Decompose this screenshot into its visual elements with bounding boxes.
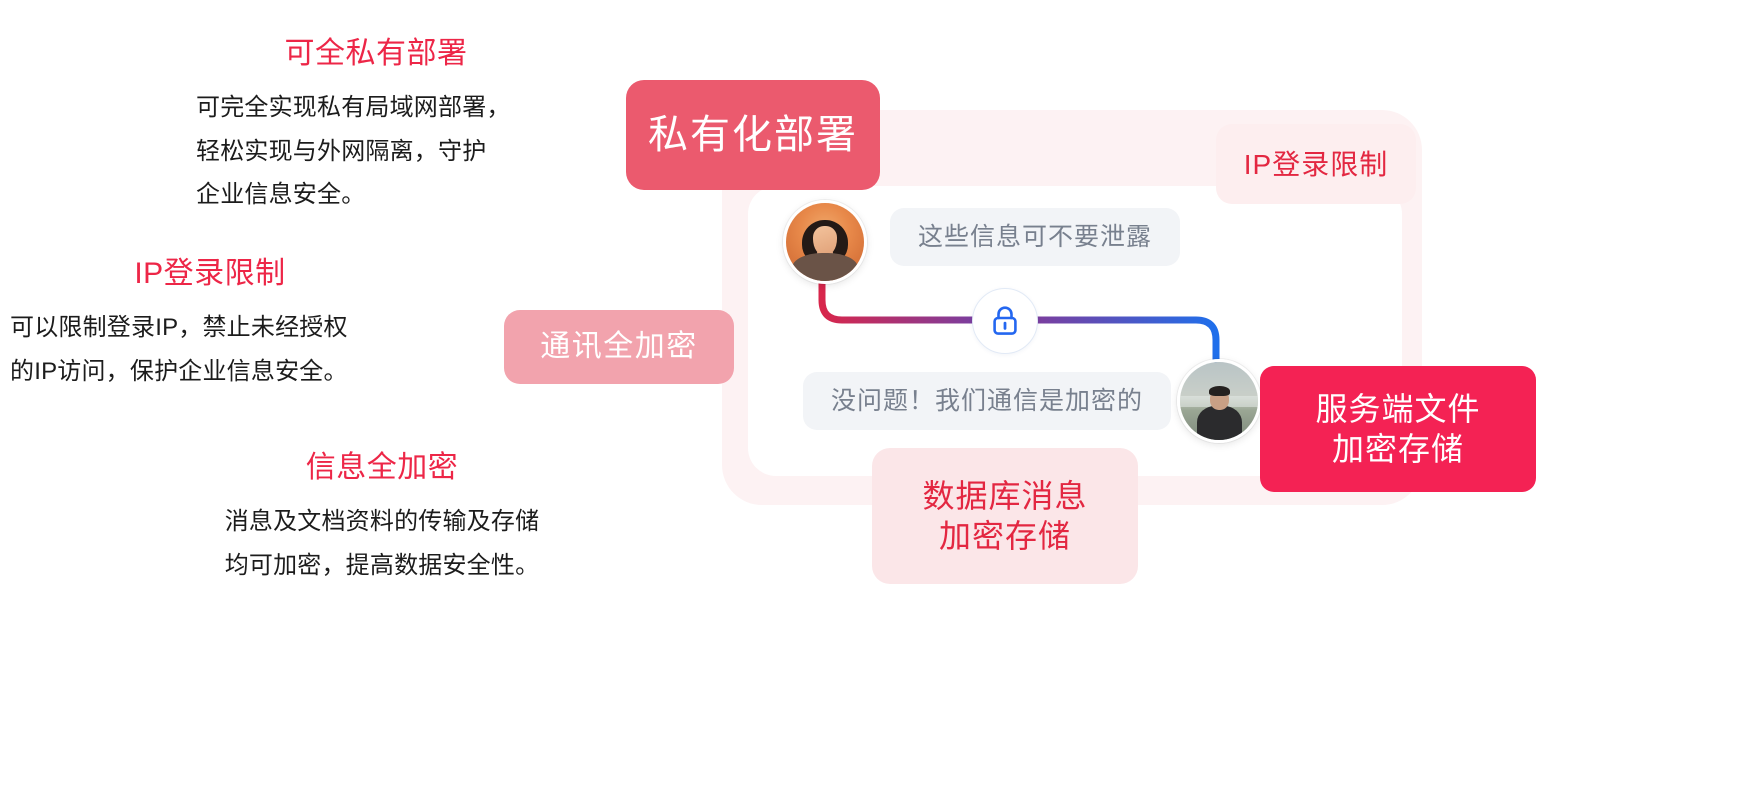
feature-body: 消息及文档资料的传输及存储 均可加密，提高数据安全性。 bbox=[196, 500, 568, 587]
feature-block-private-deploy: 可全私有部署 可完全实现私有局域网部署， 轻松实现与外网隔离，守护 企业信息安全… bbox=[196, 36, 556, 217]
tag-private-deployment: 私有化部署 bbox=[626, 80, 880, 190]
feature-title: IP登录限制 bbox=[10, 256, 410, 292]
avatar-image bbox=[786, 203, 864, 281]
message-text: 没问题！我们通信是加密的 bbox=[831, 389, 1143, 414]
lock-icon bbox=[990, 305, 1020, 337]
woman-avatar bbox=[783, 200, 867, 284]
man-avatar bbox=[1177, 359, 1261, 443]
avatar-image bbox=[1180, 362, 1258, 440]
tag-communication-encryption: 通讯全加密 bbox=[504, 310, 734, 384]
tag-database-message-encryption: 数据库消息 加密存储 bbox=[872, 448, 1138, 584]
feature-body: 可完全实现私有局域网部署， 轻松实现与外网隔离，守护 企业信息安全。 bbox=[196, 86, 556, 217]
feature-title: 信息全加密 bbox=[196, 450, 568, 486]
message-bubble-incoming: 这些信息可不要泄露 bbox=[890, 208, 1180, 266]
lock-badge bbox=[972, 288, 1038, 354]
feature-block-ip-limit: IP登录限制 可以限制登录IP，禁止未经授权 的IP访问，保护企业信息安全。 bbox=[10, 256, 410, 393]
feature-title: 可全私有部署 bbox=[196, 36, 556, 72]
feature-body: 可以限制登录IP，禁止未经授权 的IP访问，保护企业信息安全。 bbox=[10, 306, 410, 393]
feature-block-full-encryption: 信息全加密 消息及文档资料的传输及存储 均可加密，提高数据安全性。 bbox=[196, 450, 568, 587]
message-text: 这些信息可不要泄露 bbox=[918, 225, 1152, 250]
tag-server-file-encryption: 服务端文件 加密存储 bbox=[1260, 366, 1536, 492]
tag-ip-login-limit: IP登录限制 bbox=[1216, 124, 1416, 204]
message-bubble-outgoing: 没问题！我们通信是加密的 bbox=[803, 372, 1171, 430]
